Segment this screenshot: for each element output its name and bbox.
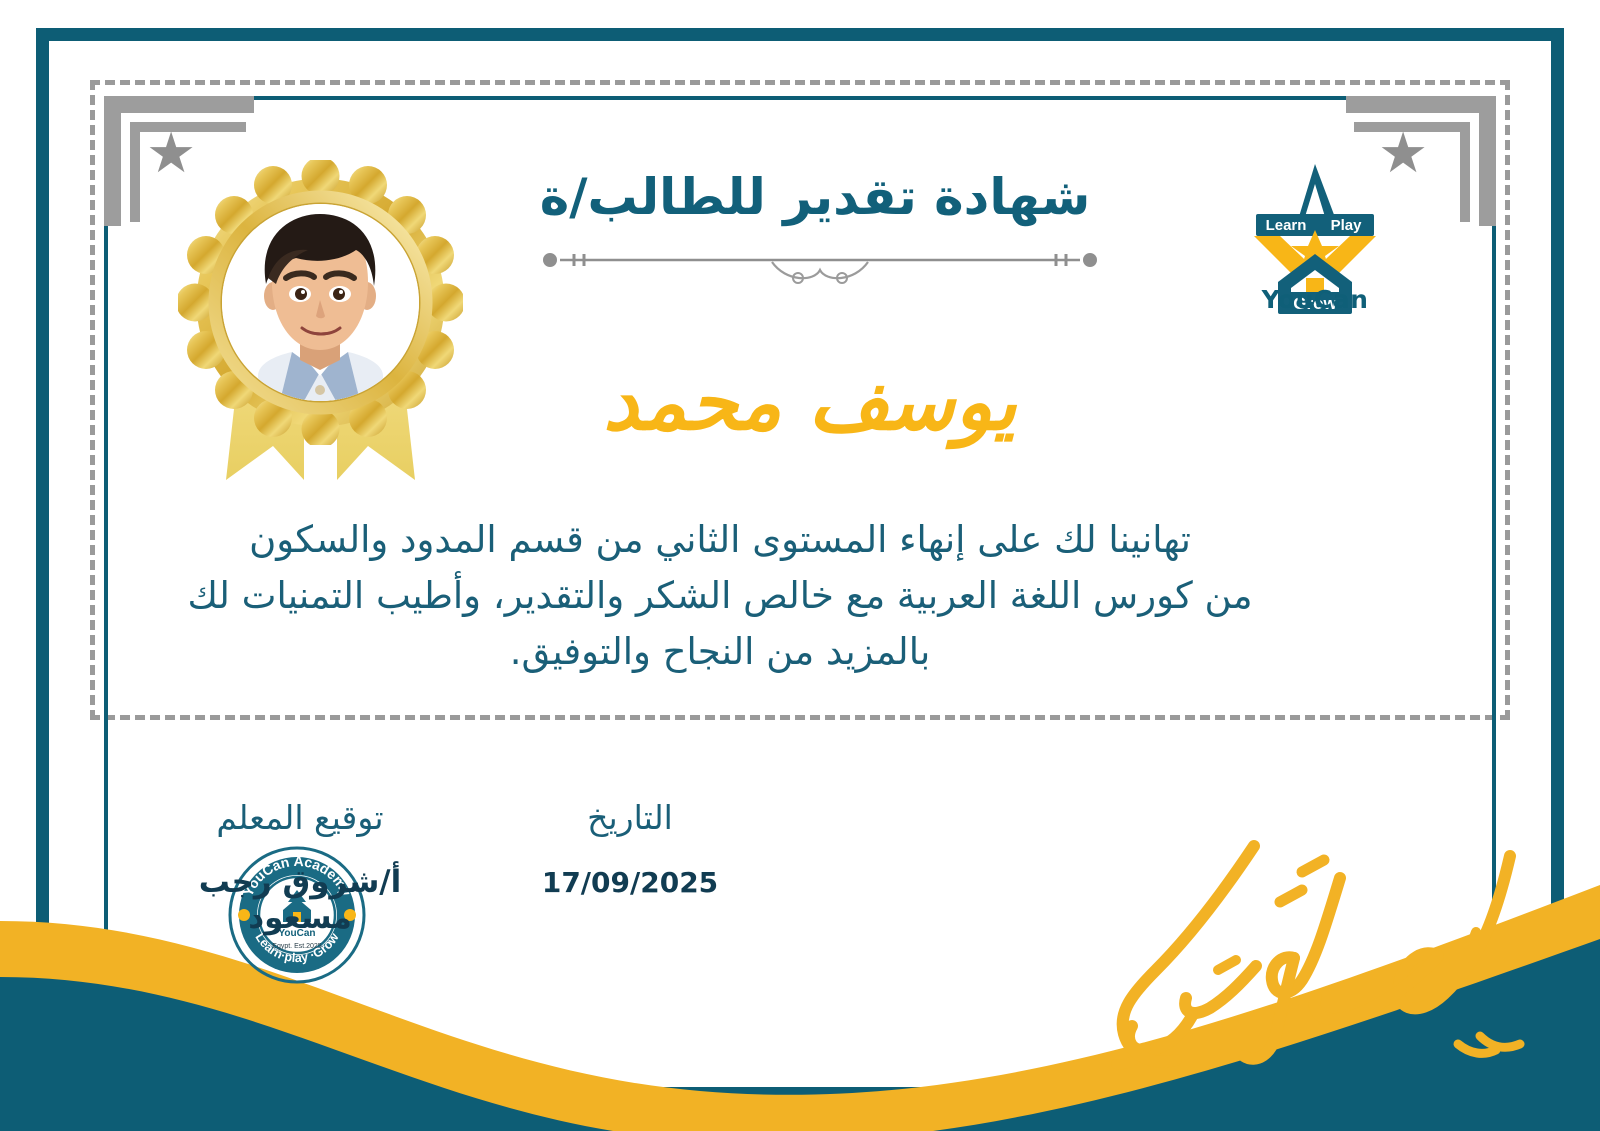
certificate-title: شهادة تقدير للطالب/ة	[470, 168, 1160, 226]
date-value: 17/09/2025	[530, 866, 730, 899]
date-label: التاريخ	[530, 798, 730, 837]
decorative-calligraphy	[1040, 820, 1560, 1110]
student-photo	[222, 204, 419, 401]
certificate-canvas: ★ ★	[0, 0, 1600, 1131]
brand-name: YouCan	[1240, 285, 1390, 314]
student-name: يوسف محمد	[430, 358, 1190, 448]
logo-learn-label: Learn	[1266, 217, 1307, 234]
signature-label: توقيع المعلم	[170, 798, 430, 837]
teacher-name: أ/شروق رجب مسعود	[150, 864, 450, 936]
logo-play-label: Play	[1331, 217, 1363, 234]
body-line-1: تهانينا لك على إنهاء المستوى الثاني من ق…	[160, 512, 1280, 568]
student-photo-badge	[178, 160, 463, 490]
body-line-2: من كورس اللغة العربية مع خالص الشكر والت…	[160, 568, 1280, 624]
certificate-body: تهانينا لك على إنهاء المستوى الثاني من ق…	[160, 512, 1280, 681]
seal-center-sub: Egypt. Est.2025	[272, 943, 322, 950]
ornament-divider-icon	[540, 248, 1100, 288]
